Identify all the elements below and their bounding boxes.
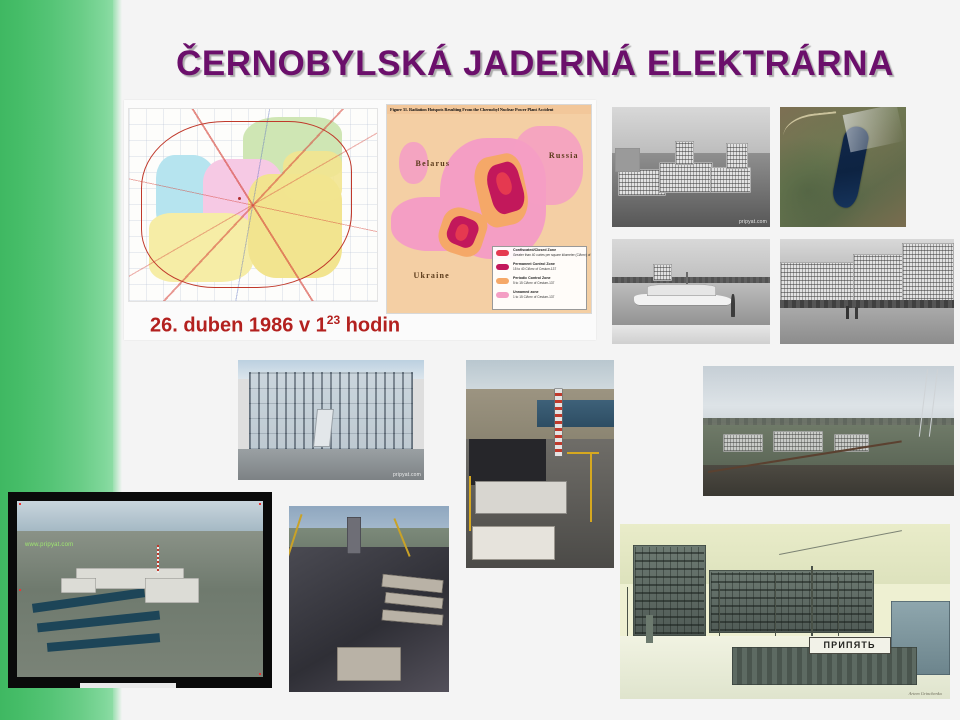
ventilation-stack bbox=[555, 389, 562, 456]
photo-pripyat-street bbox=[780, 239, 954, 344]
pin-marker bbox=[259, 673, 261, 675]
building-block bbox=[615, 148, 640, 172]
bare-tree bbox=[719, 584, 720, 640]
building-block bbox=[726, 143, 748, 169]
map-national-border bbox=[141, 121, 351, 288]
reactor-block bbox=[145, 578, 199, 603]
radiation-map-legend: Confiscated/Closed Zone Greater than 40 … bbox=[492, 246, 587, 310]
construction-crane bbox=[469, 476, 471, 530]
subtitle-prefix: 26. duben 1986 v 1 bbox=[150, 315, 327, 337]
country-label-belarus: Belarus bbox=[416, 159, 451, 168]
reactor-tower bbox=[347, 517, 361, 554]
boat-mast bbox=[686, 272, 688, 285]
page-title: ČERNOBYLSKÁ JADERNÁ ELEKTRÁRNA bbox=[120, 44, 950, 84]
pin-marker bbox=[19, 503, 21, 505]
legend-row: Permanent Control Zone 15 to 40 Ci/km² o… bbox=[496, 263, 586, 275]
photo-palace-of-culture: pripyat.com bbox=[238, 360, 424, 480]
photo-aerial-plant: www.pripyat.com bbox=[8, 492, 272, 688]
country-label-ukraine: Ukraine bbox=[414, 271, 450, 280]
legend-label-confiscated: Confiscated/Closed Zone bbox=[513, 248, 556, 252]
building-block bbox=[675, 141, 694, 165]
apartment-block bbox=[633, 545, 706, 636]
pin-marker bbox=[19, 589, 21, 591]
legend-detail-unnamed: 1 to 15 Ci/km² of Cesium-137 bbox=[513, 295, 554, 299]
sarcophagus-roof bbox=[475, 481, 567, 514]
legend-row: Unnamed zone 1 to 15 Ci/km² of Cesium-13… bbox=[496, 291, 586, 303]
photo-satellite-cooling-pond bbox=[780, 107, 906, 227]
subtitle-date: 26. duben 1986 v 123 hodin bbox=[150, 313, 400, 338]
photo-winter-pripyat: ПРИПЯТЬ Artem Grinchenko bbox=[620, 524, 950, 699]
person-figure bbox=[855, 307, 858, 319]
radiation-map-caption: Figure 31. Radiation Hotspots Resulting … bbox=[390, 107, 588, 112]
photo-road bbox=[780, 308, 954, 344]
bare-tree bbox=[811, 566, 812, 640]
photo-reactor-ruins bbox=[289, 506, 449, 692]
fence-post bbox=[646, 615, 653, 643]
photo-rooftop-view bbox=[703, 366, 954, 496]
photo-watermark: pripyat.com bbox=[739, 219, 767, 225]
apartment-block bbox=[723, 434, 763, 452]
aerial-photo-inner: www.pripyat.com bbox=[17, 501, 263, 677]
legend-label-permanent: Permanent Control Zone bbox=[513, 262, 555, 266]
photo-watermark: pripyat.com bbox=[393, 472, 421, 478]
photo-caption-tab bbox=[80, 683, 176, 688]
building-block bbox=[710, 167, 751, 193]
photo-sky bbox=[703, 366, 954, 423]
photo-hydrofoil-boat bbox=[612, 239, 770, 344]
photo-beach bbox=[612, 325, 770, 344]
legend-swatch-permanent bbox=[496, 264, 509, 270]
map-belarus-administrative bbox=[128, 108, 378, 302]
person-figure bbox=[846, 306, 849, 319]
bare-tree bbox=[838, 577, 839, 640]
country-label-russia: Russia bbox=[549, 151, 579, 160]
service-building bbox=[61, 578, 95, 592]
concrete-slab bbox=[337, 647, 401, 680]
aerial-watermark: www.pripyat.com bbox=[25, 542, 73, 548]
legend-swatch-confiscated bbox=[496, 250, 509, 256]
rooftop-surface bbox=[703, 465, 954, 496]
legend-row: Confiscated/Closed Zone Greater than 40 … bbox=[496, 249, 586, 261]
cooling-pond bbox=[537, 400, 614, 427]
legend-row: Periodic Control Zone 5 to 15 Ci/km² of … bbox=[496, 277, 586, 289]
slide: ČERNOBYLSKÁ JADERNÁ ELEKTRÁRNA Figure 31… bbox=[0, 0, 960, 720]
legend-label-unnamed: Unnamed zone bbox=[513, 290, 539, 294]
photo-pripyat-cityscape: pripyat.com bbox=[612, 107, 770, 227]
boat-cabin bbox=[647, 284, 717, 296]
construction-crane bbox=[590, 452, 592, 523]
bare-tree bbox=[775, 573, 776, 640]
photographer-signature: Artem Grinchenko bbox=[909, 691, 942, 696]
legend-swatch-unnamed bbox=[496, 292, 509, 298]
containment-wall bbox=[472, 526, 555, 559]
subtitle-superscript: 23 bbox=[327, 313, 340, 327]
legend-detail-confiscated: Greater than 40 curies per square kilome… bbox=[513, 253, 592, 257]
legend-swatch-periodic bbox=[496, 278, 509, 284]
photo-reactor-four bbox=[466, 360, 614, 568]
apartment-block bbox=[709, 570, 874, 633]
ventilation-stack bbox=[157, 545, 159, 573]
background-building bbox=[653, 264, 672, 281]
building-block bbox=[659, 162, 713, 193]
apartment-block bbox=[773, 431, 823, 452]
pripyat-town-sign: ПРИПЯТЬ bbox=[809, 637, 891, 654]
construction-crane bbox=[567, 452, 600, 454]
bare-tree bbox=[627, 587, 628, 640]
destroyed-section bbox=[469, 439, 546, 485]
legend-detail-permanent: 15 to 40 Ci/km² of Cesium-137 bbox=[513, 267, 556, 271]
legend-detail-periodic: 5 to 15 Ci/km² of Cesium-137 bbox=[513, 281, 554, 285]
pin-marker bbox=[259, 503, 261, 505]
subtitle-suffix: hodin bbox=[340, 315, 400, 337]
person-figure bbox=[731, 294, 735, 317]
map-radiation-hotspots: Figure 31. Radiation Hotspots Resulting … bbox=[386, 104, 592, 314]
legend-label-periodic: Periodic Control Zone bbox=[513, 276, 551, 280]
